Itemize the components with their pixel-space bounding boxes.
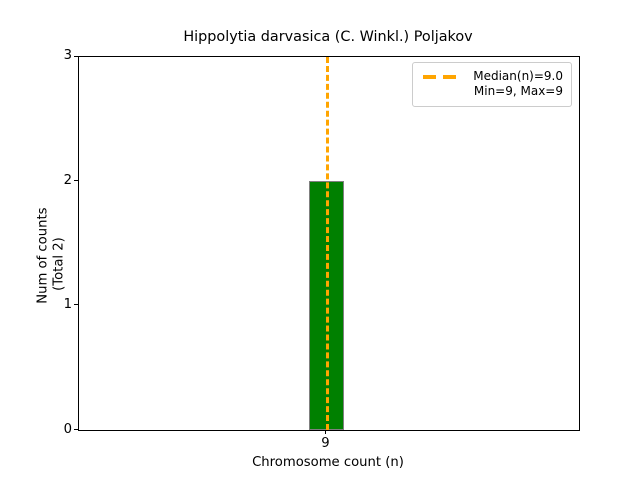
legend[interactable]: Median(n)=9.0 Min=9, Max=9 [412,62,572,107]
legend-entry-median: Median(n)=9.0 Min=9, Max=9 [421,69,563,99]
legend-entry-label: Median(n)=9.0 Min=9, Max=9 [468,69,563,99]
x-axis-label: Chromosome count (n) [78,455,578,471]
plot-canvas [79,57,579,430]
legend-label-median: Median(n)=9.0 [468,69,563,84]
plot-area [78,56,580,431]
y-tick-label-1: 1 [58,298,72,311]
y-tick-label-2: 2 [58,174,72,187]
x-tick-label-9: 9 [311,437,340,450]
y-tick-label-3: 3 [58,49,72,62]
legend-dashed-line-icon [421,69,461,86]
y-axis-label-line2: (Total 2) [52,237,67,291]
y-axis-label-line1: Num of counts [36,207,51,303]
y-axis-label: Num of counts (Total 2) [20,78,84,451]
chart-title: Hippolytia darvasica (C. Winkl.) Poljako… [78,28,578,46]
matplotlib-figure: Hippolytia darvasica (C. Winkl.) Poljako… [0,0,640,480]
legend-label-minmax: Min=9, Max=9 [468,84,563,99]
y-tick-label-0: 0 [58,423,72,436]
median-line [326,57,329,430]
